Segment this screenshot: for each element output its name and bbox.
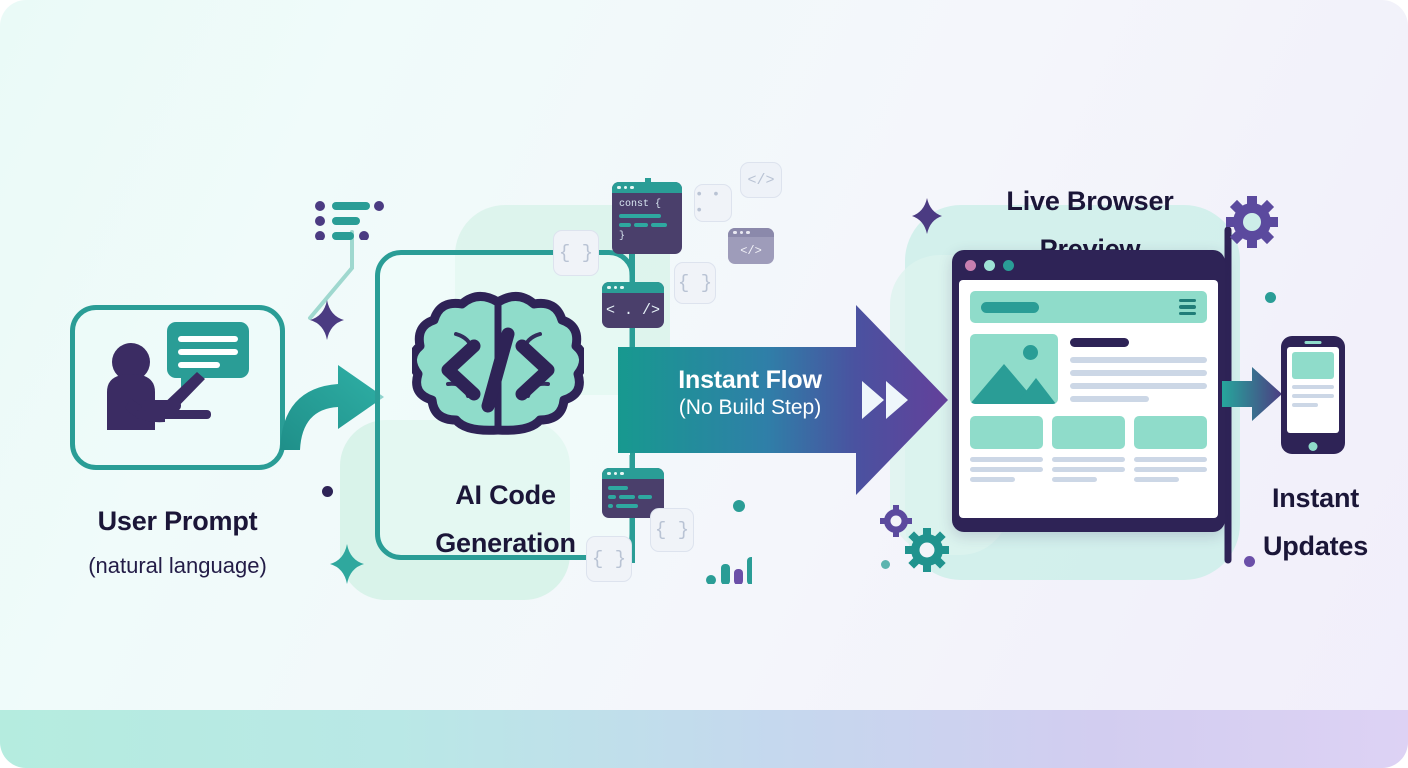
- window-dot: [624, 186, 628, 190]
- phone-screen: [1287, 347, 1339, 433]
- content-card[interactable]: [1134, 416, 1207, 449]
- menu-icon[interactable]: [1179, 299, 1196, 316]
- window-dot: [607, 286, 611, 290]
- gear-icon-teal-large: [905, 528, 949, 572]
- window-titlebar: [602, 282, 664, 293]
- image-placeholder-icon: [970, 334, 1058, 404]
- code-tag-text: </>: [740, 244, 762, 258]
- short-arrow-icon: [1222, 365, 1284, 423]
- decor-dot: [1265, 292, 1276, 303]
- instant-updates-title-line2: Updates: [1233, 531, 1398, 561]
- browser-viewport: [959, 280, 1218, 518]
- code-tag-chip-top[interactable]: </>: [740, 162, 782, 198]
- text-line: [970, 477, 1015, 482]
- braces-text: { }: [655, 519, 689, 541]
- diagram-canvas: User Prompt (natural language) AI Code G…: [0, 0, 1408, 768]
- user-prompt-subtitle: (natural language): [40, 554, 315, 579]
- code-line: [619, 214, 661, 218]
- browser-dot-yellow[interactable]: [984, 260, 995, 271]
- heading-line: [1070, 338, 1129, 347]
- text-line: [970, 467, 1043, 472]
- window-dot: [630, 186, 634, 190]
- text-line: [1134, 457, 1207, 462]
- code-line: [651, 223, 667, 227]
- window-dot: [740, 231, 744, 235]
- text-line: [1070, 383, 1207, 389]
- brain-with-code-brackets-icon: [412, 288, 584, 438]
- decor-dot: [881, 560, 890, 569]
- text-line: [1070, 370, 1207, 376]
- curved-arrow-icon: [272, 345, 392, 455]
- code-line: [638, 495, 652, 499]
- braces-text: { }: [592, 548, 626, 570]
- user-prompt-label: User Prompt (natural language): [40, 488, 315, 597]
- bulleted-list-icon: [315, 200, 387, 240]
- braces-text: { }: [678, 272, 712, 294]
- code-line: [608, 504, 613, 508]
- decor-dot: [733, 500, 745, 512]
- browser-nav-bar[interactable]: [970, 291, 1207, 323]
- text-line: [1070, 396, 1149, 402]
- ai-code-title-line1: AI Code: [378, 480, 633, 510]
- window-dot: [746, 231, 750, 235]
- window-titlebar: [612, 182, 682, 193]
- user-prompt-title: User Prompt: [40, 506, 315, 536]
- bottom-gradient-band: [0, 710, 1408, 768]
- text-line: [1134, 467, 1207, 472]
- browser-dot-green[interactable]: [1003, 260, 1014, 271]
- instant-updates-title-line1: Instant: [1233, 483, 1398, 513]
- text-line: [1052, 467, 1125, 472]
- braces-chip-2[interactable]: { }: [674, 262, 716, 304]
- ellipsis-text: • • •: [695, 187, 731, 219]
- bar-chart-icon: [706, 556, 752, 584]
- text-line: [1134, 477, 1179, 482]
- window-titlebar: [728, 228, 774, 237]
- browser-dot-red[interactable]: [965, 260, 976, 271]
- window-dot: [733, 231, 737, 235]
- const-text: const {: [619, 199, 675, 210]
- window-dot: [607, 472, 611, 476]
- decor-dot: [322, 486, 333, 497]
- code-line: [616, 504, 638, 508]
- const-block-card[interactable]: const { }: [612, 182, 682, 254]
- phone-hero: [1292, 352, 1334, 379]
- window-body: </>: [728, 237, 774, 264]
- window-dot: [620, 286, 624, 290]
- text-line: [1292, 394, 1334, 398]
- mobile-phone-icon[interactable]: [1281, 336, 1345, 454]
- braces-chip-4[interactable]: { }: [586, 536, 632, 582]
- text-line: [1292, 385, 1334, 389]
- code-tag-text: </>: [747, 172, 774, 189]
- window-dot: [614, 472, 618, 476]
- search-bar-placeholder[interactable]: [981, 302, 1039, 313]
- code-tag-window-sm[interactable]: </>: [728, 228, 774, 264]
- braces-text: { }: [559, 242, 593, 264]
- content-card[interactable]: [1052, 416, 1125, 449]
- text-line: [1052, 457, 1125, 462]
- text-line: [1070, 357, 1207, 363]
- phone-speaker: [1305, 341, 1322, 344]
- browser-window-mockup[interactable]: [952, 250, 1225, 532]
- text-line: [1052, 477, 1097, 482]
- window-dot: [617, 186, 621, 190]
- decor-dot: [1244, 556, 1255, 567]
- sparkle-icon: [912, 198, 942, 234]
- browser-titlebar: [952, 250, 1225, 280]
- braces-chip-1[interactable]: { }: [553, 230, 599, 276]
- code-line: [634, 223, 648, 227]
- sparkle-icon: [310, 300, 344, 340]
- window-dot: [614, 286, 618, 290]
- live-preview-title-line1: Live Browser: [955, 186, 1225, 216]
- window-body: const { }: [612, 193, 682, 248]
- braces-chip-3[interactable]: { }: [650, 508, 694, 552]
- code-line: [619, 495, 635, 499]
- text-line: [970, 457, 1043, 462]
- text-line: [1292, 403, 1318, 407]
- phone-home-button[interactable]: [1309, 442, 1318, 451]
- code-line: [608, 495, 616, 499]
- code-line: [619, 223, 631, 227]
- instant-updates-label: Instant Updates: [1233, 465, 1398, 579]
- content-card[interactable]: [970, 416, 1043, 449]
- instant-flow-arrow[interactable]: [618, 305, 948, 495]
- const-close: }: [619, 231, 675, 242]
- ellipsis-chip[interactable]: • • •: [694, 184, 732, 222]
- person-at-laptop-with-speech-bubble-icon: [95, 320, 265, 460]
- gear-icon-purple-large: [1226, 196, 1278, 248]
- sparkle-icon: [330, 544, 364, 584]
